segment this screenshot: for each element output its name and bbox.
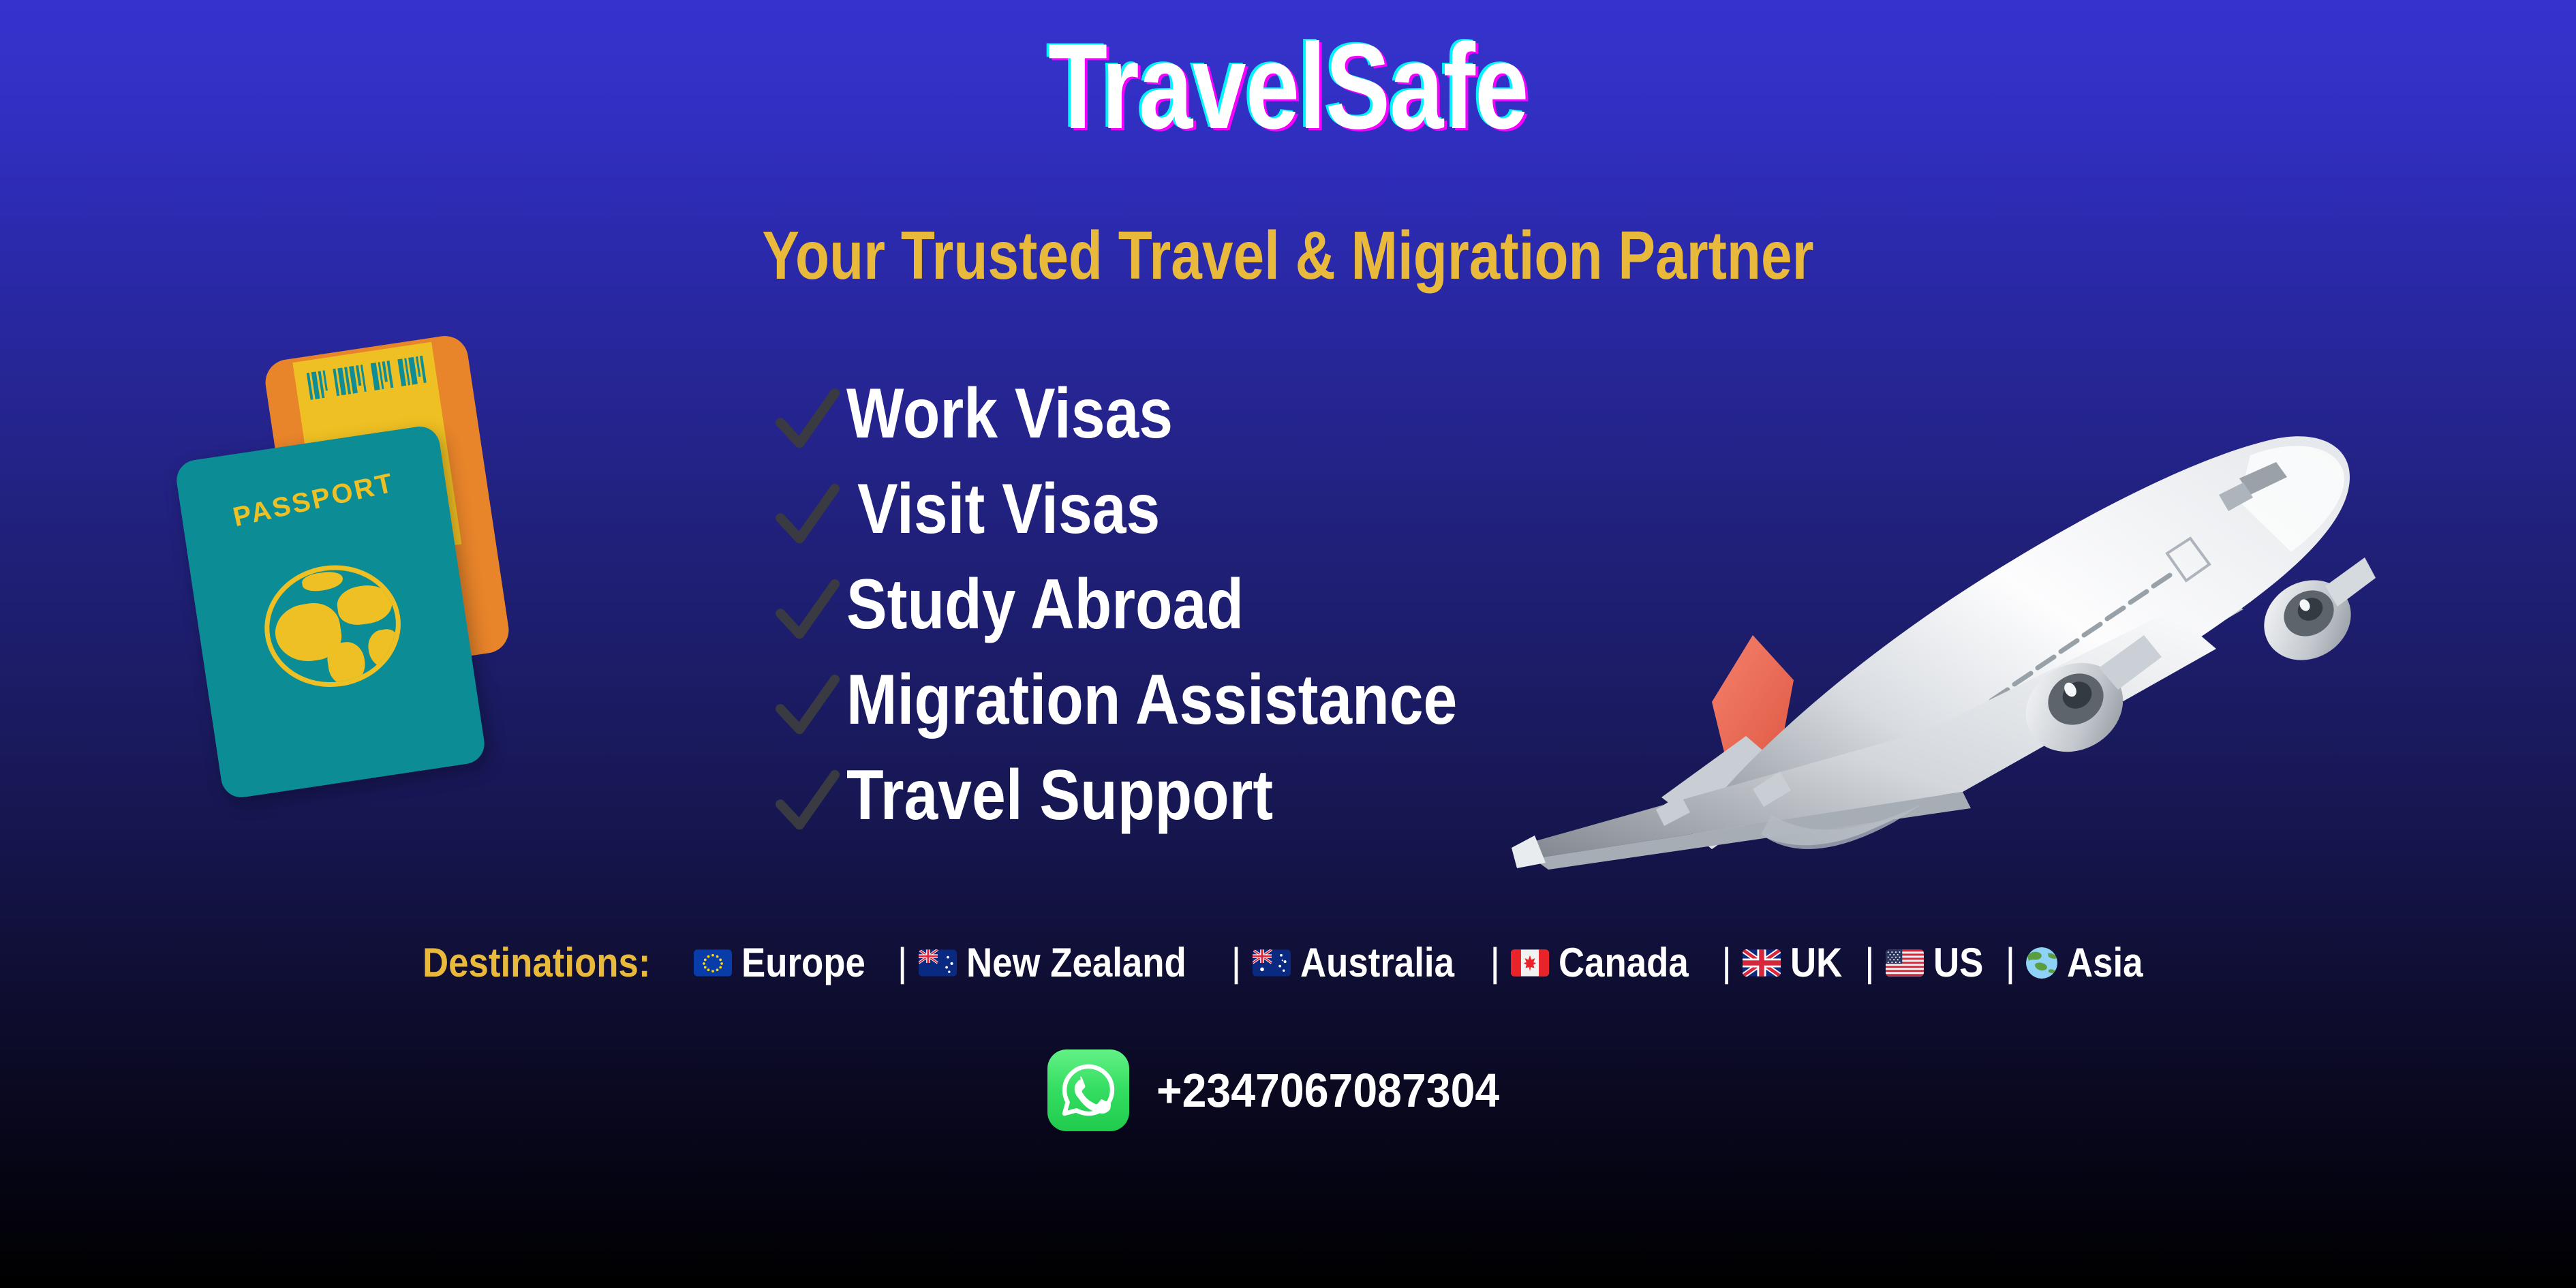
service-item-0: Work Visas — [770, 373, 1860, 469]
check-mark-icon — [770, 671, 844, 744]
service-item-1: Visit Visas — [770, 469, 1860, 564]
globe-emblem-icon — [256, 556, 409, 696]
destination-name: UK — [1790, 939, 1842, 986]
destinations-heading: Destinations: — [423, 939, 650, 986]
passport-book: PASSPORT — [174, 424, 487, 800]
whatsapp-icon[interactable] — [1047, 1049, 1129, 1131]
destination-separator: | — [1490, 940, 1500, 985]
destination-separator: | — [2005, 940, 2015, 985]
services-list: Work Visas Visit Visas Study Abroad Migr… — [770, 373, 1860, 850]
check-mark-icon — [770, 766, 844, 840]
destination-separator: | — [1231, 940, 1241, 985]
flag-canada-icon — [1511, 949, 1549, 977]
check-mark-icon — [770, 575, 844, 649]
destination-name: Canada — [1559, 939, 1689, 986]
barcode-icon — [307, 356, 427, 403]
service-label: Study Abroad — [846, 564, 1244, 646]
brand-subtitle-wrap: Your Trusted Travel & Migration Partner — [0, 221, 2576, 290]
check-mark-icon — [770, 384, 844, 458]
check-mark-icon — [770, 480, 844, 553]
globe-asia-icon — [2026, 947, 2057, 979]
flag-us-icon — [1886, 949, 1924, 977]
flag-australia-icon — [1253, 949, 1291, 977]
destination-name: US — [1933, 939, 1983, 986]
service-item-4: Travel Support — [770, 755, 1860, 850]
destinations-row: Destinations: Europe | — [0, 939, 2576, 986]
service-label: Visit Visas — [857, 469, 1160, 551]
flag-new-zealand-icon — [919, 949, 957, 977]
destination-name: New Zealand — [966, 939, 1186, 986]
passport-illustration: PASSPORT — [198, 341, 613, 893]
destination-separator: | — [898, 940, 908, 985]
destination-name: Europe — [741, 939, 865, 986]
destination-name: Asia — [2067, 939, 2143, 986]
flag-uk-icon — [1743, 949, 1781, 977]
service-label: Migration Assistance — [846, 660, 1457, 741]
contact-row: +2347067087304 — [0, 1049, 2576, 1131]
travel-banner: TravelSafe Your Trusted Travel & Migrati… — [0, 0, 2576, 1288]
service-item-3: Migration Assistance — [770, 660, 1860, 755]
destination-name: Australia — [1300, 939, 1454, 986]
passport-label: PASSPORT — [181, 457, 446, 544]
brand-title: TravelSafe — [1048, 26, 1528, 147]
phone-number[interactable]: +2347067087304 — [1156, 1063, 1499, 1118]
brand-title-wrap: TravelSafe — [0, 26, 2576, 147]
service-item-2: Study Abroad — [770, 564, 1860, 660]
flag-europe-icon — [694, 949, 732, 977]
brand-subtitle: Your Trusted Travel & Migration Partner — [762, 221, 1813, 290]
destination-separator: | — [1721, 940, 1732, 985]
service-label: Travel Support — [846, 755, 1273, 837]
destination-separator: | — [1865, 940, 1875, 985]
service-label: Work Visas — [846, 373, 1173, 455]
